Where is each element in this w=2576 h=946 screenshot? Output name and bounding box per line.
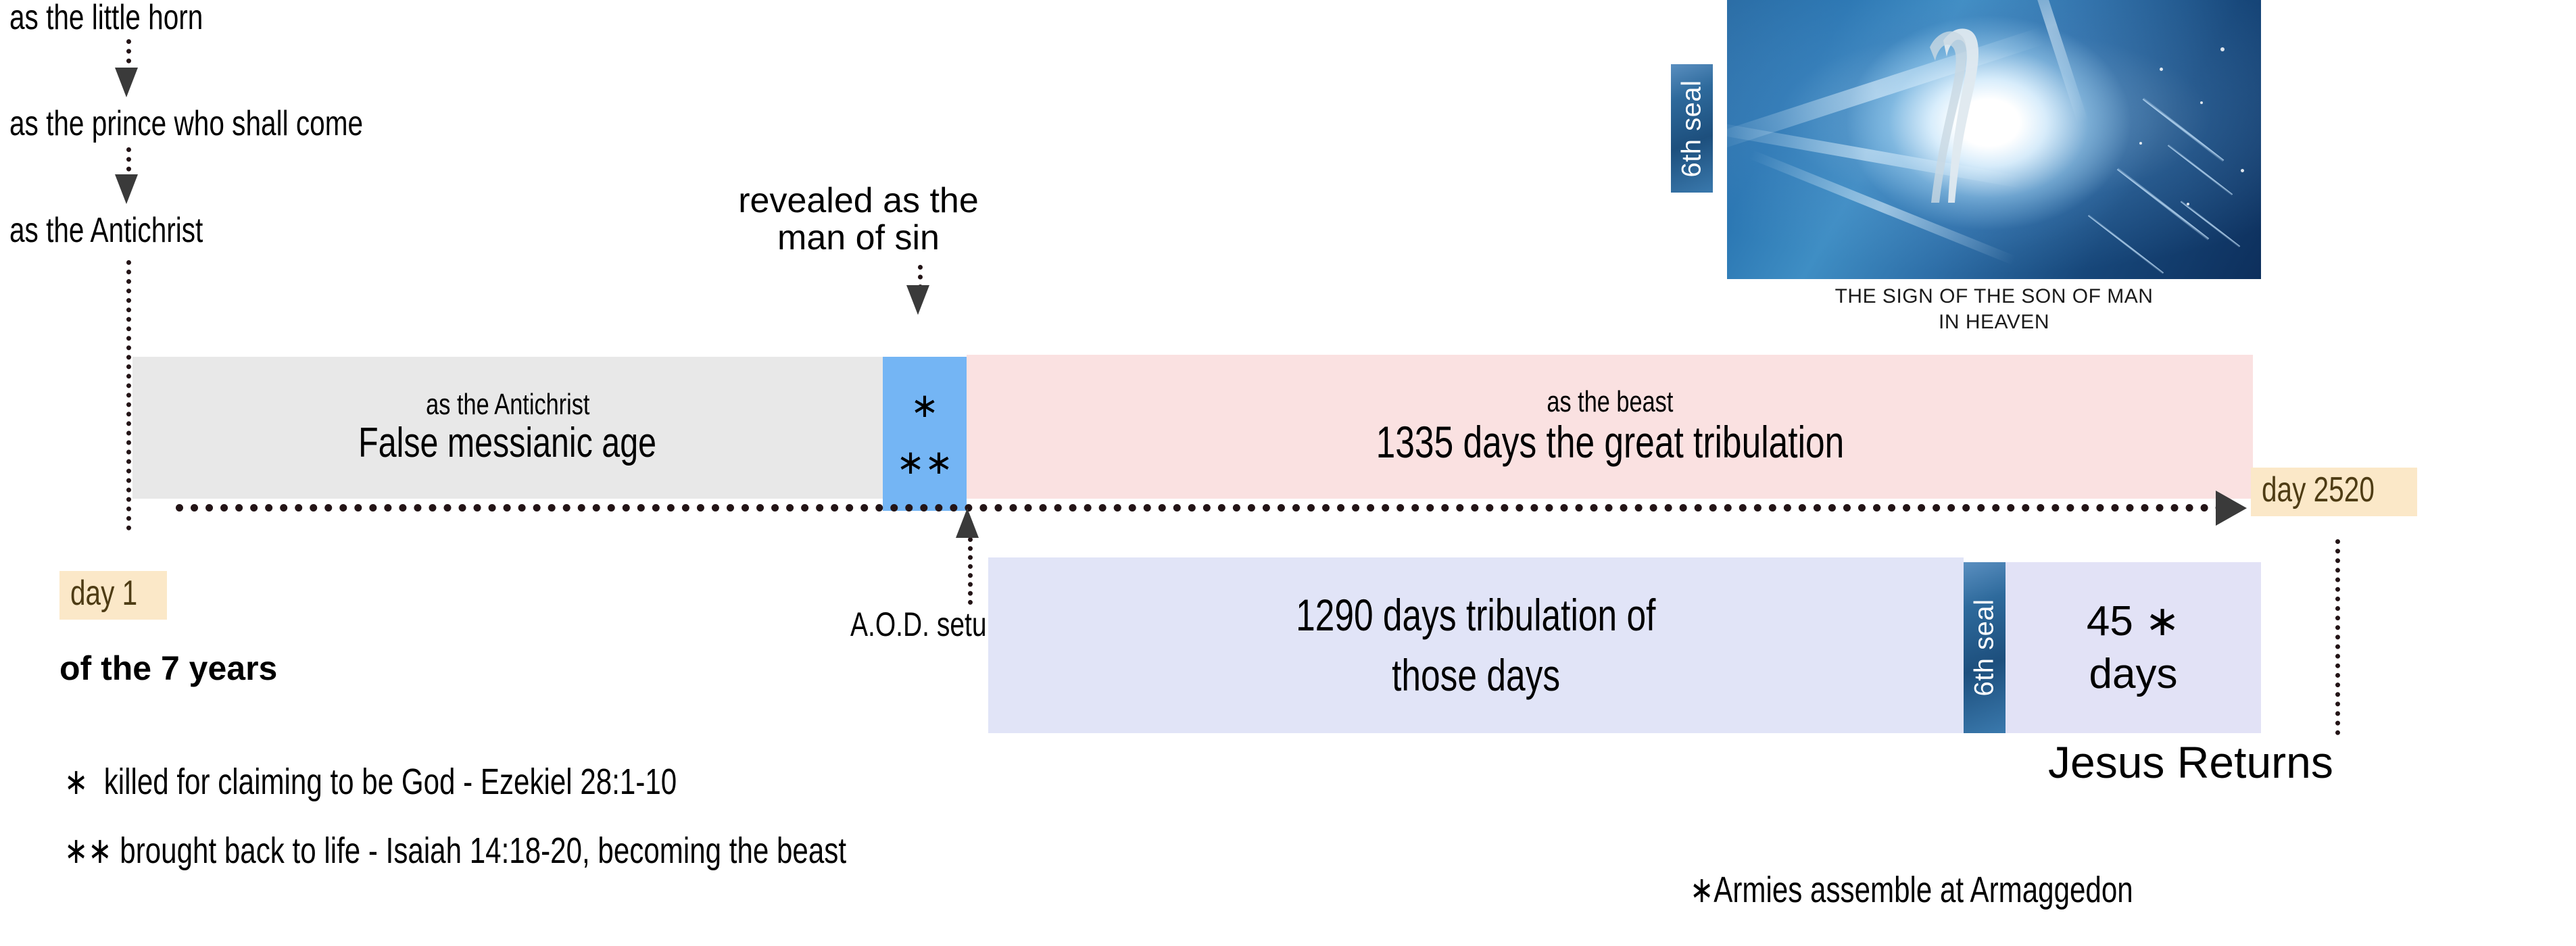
bar-45-days-line2: days [2089, 648, 2178, 701]
photo-sixth-seal-strip: 6th seal [1671, 64, 1713, 193]
chain-item-antichrist-label: as the Antichrist [9, 213, 203, 248]
aod-setup-arrow-icon [956, 508, 979, 538]
chain-item-antichrist: as the Antichrist [9, 213, 258, 248]
revealed-callout-line1: revealed as the [676, 182, 1041, 220]
photo-caption-line2: IN HEAVEN [1727, 309, 2261, 335]
bar-death-mark-1: ∗ [910, 389, 939, 422]
bar-1290-days-line2: those days [1368, 651, 1584, 700]
bar-death-mark-2: ∗∗ [896, 445, 953, 479]
footnote-2-mark: ∗∗ [64, 830, 112, 871]
bar-sixth-seal-label: 6th seal [1970, 599, 2000, 696]
revealed-callout-arrow-icon [906, 285, 929, 315]
day-2520-chip: day 2520 [2251, 468, 2417, 516]
timeline-arrowhead-icon [2216, 491, 2247, 526]
chain-item-prince: as the prince who shall come [9, 106, 463, 141]
bar-great-tribulation-sub: as the beast [1529, 387, 1691, 418]
bar-45-days: 45 ∗ days [2006, 562, 2261, 733]
day-1-sublabel: of the 7 years [59, 649, 277, 688]
revealed-callout: revealed as the man of sin [676, 182, 1041, 256]
bar-great-tribulation: as the beast 1335 days the great tribula… [967, 355, 2253, 499]
chain-arrow-2-icon [115, 174, 138, 204]
bar-45-days-line1: 45 ∗ [2087, 595, 2180, 648]
bar-false-messianic-age-sub: as the Antichrist [403, 389, 613, 420]
bar-sixth-seal-strip: 6th seal [1964, 562, 2006, 733]
bar-1290-days-line1: 1290 days tribulation of [1245, 591, 1706, 640]
bar-false-messianic-age-main: False messianic age [316, 420, 698, 466]
day-1-chip: day 1 [59, 571, 167, 620]
jesus-returns-vertical-guide [2335, 539, 2340, 735]
chain-item-prince-label: as the prince who shall come [9, 106, 363, 141]
photo-caption: THE SIGN OF THE SON OF MAN IN HEAVEN [1727, 284, 2261, 334]
footnote-2-text: brought back to life - Isaiah 14:18-20, … [120, 830, 846, 871]
chain-item-little-horn-label: as the little horn [9, 0, 203, 35]
jesus-returns-label: Jesus Returns [2048, 737, 2333, 788]
revealed-callout-line2: man of sin [676, 220, 1041, 257]
armageddon-note: ∗Armies assemble at Armaggedon [1690, 872, 2258, 908]
timeline-dotted-axis [176, 504, 2224, 512]
day1-vertical-guide [126, 260, 131, 530]
day-1-label: day 1 [70, 574, 137, 614]
aod-setup-connector [968, 537, 973, 605]
chain-item-little-horn: as the little horn [9, 0, 258, 35]
chain-arrow-1-icon [115, 68, 138, 97]
footnote-1-mark: ∗ [64, 762, 88, 802]
sign-of-son-of-man-image [1727, 0, 2261, 279]
photo-sixth-seal-label: 6th seal [1677, 80, 1707, 177]
bar-1290-days: 1290 days tribulation of those days [988, 557, 1964, 733]
bar-false-messianic-age: as the Antichrist False messianic age [132, 357, 883, 499]
photo-caption-line1: THE SIGN OF THE SON OF MAN [1727, 284, 2261, 309]
bar-death-resurrection: ∗ ∗∗ [883, 357, 967, 511]
bar-great-tribulation-main: 1335 days the great tribulation [1310, 418, 1910, 467]
day-2520-label: day 2520 [2262, 470, 2375, 511]
footnote-double-asterisk: ∗∗ brought back to life - Isaiah 14:18-2… [64, 832, 1067, 869]
footnote-1-text: killed for claiming to be God - Ezekiel … [104, 762, 677, 802]
footnote-single-asterisk: ∗ killed for claiming to be God - Ezekie… [64, 764, 850, 800]
